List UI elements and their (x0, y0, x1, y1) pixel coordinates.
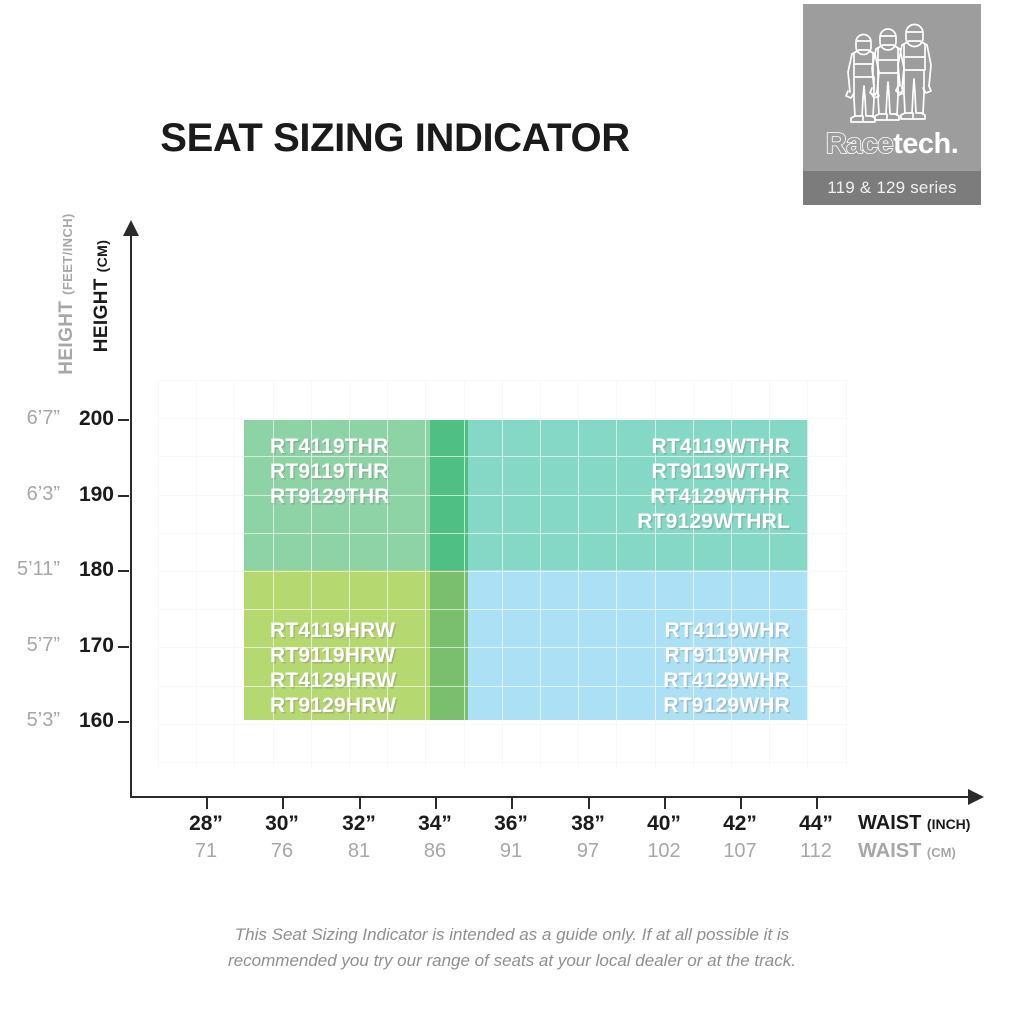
y-axis-arrow-icon (123, 220, 139, 236)
x-tick-label-inch: 44” (778, 812, 854, 836)
y-axis-title-cm-unit: (CM) (94, 240, 110, 273)
y-tick-label-cm: 200 (62, 407, 114, 431)
x-tick-label-inch: 36” (473, 812, 549, 836)
x-tick-label-cm: 102 (626, 840, 702, 863)
footnote-line-1: This Seat Sizing Indicator is intended a… (0, 922, 1024, 948)
x-tick-label-inch: 40” (626, 812, 702, 836)
model-label: RT4129HRW (270, 668, 430, 693)
y-axis-tick (118, 646, 129, 648)
x-axis-tick (511, 798, 513, 809)
model-label: RT4129WHR (468, 668, 790, 693)
x-axis-tick (664, 798, 666, 809)
model-label: RT4119WTHR (468, 434, 790, 459)
zone-bottom-left-labels: RT4119HRWRT9119HRWRT4129HRWRT9129HRW (244, 618, 430, 718)
gridline-horizontal (158, 724, 848, 725)
x-axis-tick (282, 798, 284, 809)
y-axis-tick (118, 721, 129, 723)
y-axis-title-cm: HEIGHT (CM) (91, 186, 113, 406)
x-tick-label-cm: 91 (473, 840, 549, 863)
zone-overlap-top (430, 420, 468, 570)
gridline-horizontal (158, 762, 848, 763)
y-axis-tick (118, 419, 129, 421)
zone-top-right-labels: RT4119WTHRRT9119WTHRRT4129WTHRRT9129WTHR… (468, 434, 808, 534)
x-axis-tick (740, 798, 742, 809)
gridline-horizontal (158, 380, 848, 381)
x-tick-label-cm: 81 (321, 840, 397, 863)
x-axis-line (130, 796, 972, 798)
y-axis-line (130, 232, 132, 798)
zone-top-left-green: RT4119THRRT9119THRRT9129THR (244, 420, 430, 570)
x-axis-tick (435, 798, 437, 809)
x-tick-label-cm: 107 (702, 840, 778, 863)
x-tick-label-inch: 30” (244, 812, 320, 836)
model-label: RT9129WHR (468, 693, 790, 718)
zone-bottom-right-labels: RT4119WHRRT9119WHRRT4129WHRRT9129WHR (468, 618, 808, 718)
x-axis-arrow-icon (968, 789, 984, 805)
y-tick-label-feet: 5’11” (0, 558, 60, 581)
y-tick-label-cm: 170 (62, 634, 114, 658)
x-tick-label-inch: 38” (550, 812, 626, 836)
model-label: RT9119THR (270, 459, 430, 484)
y-tick-label-feet: 5’3” (0, 709, 60, 732)
x-axis-title-inch: WAIST (INCH) (858, 812, 970, 835)
sizing-chart: RT4119THRRT9119THRRT9129THR RT4119WTHRRT… (0, 0, 1024, 1024)
y-axis-title-feet: HEIGHT (FEET/INCH) (56, 184, 78, 404)
zone-overlap-bottom (430, 570, 468, 720)
model-label: RT4119WHR (468, 618, 790, 643)
zone-bottom-left-yellowgreen: RT4119HRWRT9119HRWRT4129HRWRT9129HRW (244, 570, 430, 720)
model-label: RT9129THR (270, 484, 430, 509)
x-axis-tick (206, 798, 208, 809)
model-label: RT9119HRW (270, 643, 430, 668)
zone-bottom-right-blue: RT4119WHRRT9119WHRRT4129WHRRT9129WHR (468, 570, 808, 720)
y-tick-label-feet: 6’3” (0, 483, 60, 506)
model-label: RT9129WTHRL (468, 509, 790, 534)
x-axis-tick (359, 798, 361, 809)
y-axis-title-cm-main: HEIGHT (91, 278, 112, 352)
x-tick-label-inch: 32” (321, 812, 397, 836)
x-axis-title-inch-main: WAIST (858, 812, 921, 834)
x-axis-tick (816, 798, 818, 809)
model-label: RT9119WTHR (468, 459, 790, 484)
y-axis-title-feet-main: HEIGHT (56, 301, 77, 375)
y-tick-label-cm: 190 (62, 483, 114, 507)
model-label: RT4119THR (270, 434, 430, 459)
model-label: RT4119HRW (270, 618, 430, 643)
x-axis-tick (588, 798, 590, 809)
y-axis-tick (118, 495, 129, 497)
x-axis-title-cm: WAIST (CM) (858, 840, 956, 863)
x-tick-label-cm: 112 (778, 840, 854, 863)
zone-top-right-teal: RT4119WTHRRT9119WTHRRT4129WTHRRT9129WTHR… (468, 420, 808, 570)
y-tick-label-cm: 180 (62, 558, 114, 582)
gridline-vertical (234, 380, 235, 768)
x-axis-title-cm-main: WAIST (858, 840, 921, 862)
gridline-vertical (158, 380, 159, 768)
model-label: RT4129WTHR (468, 484, 790, 509)
y-tick-label-feet: 6’7” (0, 407, 60, 430)
x-axis-title-inch-unit: (INCH) (927, 816, 971, 832)
x-tick-label-cm: 97 (550, 840, 626, 863)
footnote-line-2: recommended you try our range of seats a… (0, 948, 1024, 974)
zone-top-left-labels: RT4119THRRT9119THRRT9129THR (244, 434, 430, 509)
y-tick-label-cm: 160 (62, 709, 114, 733)
model-label: RT9129HRW (270, 693, 430, 718)
x-tick-label-inch: 42” (702, 812, 778, 836)
gridline-vertical (196, 380, 197, 768)
gridline-vertical (846, 380, 847, 768)
x-axis-title-cm-unit: (CM) (927, 845, 956, 860)
x-tick-label-cm: 71 (168, 840, 244, 863)
x-tick-label-cm: 86 (397, 840, 473, 863)
y-axis-tick (118, 570, 129, 572)
x-tick-label-inch: 28” (168, 812, 244, 836)
y-tick-label-feet: 5’7” (0, 634, 60, 657)
x-tick-label-inch: 34” (397, 812, 473, 836)
seat-sizing-indicator-page: Racetech. 119 & 129 series SEAT SIZING I… (0, 0, 1024, 1024)
gridline-horizontal (158, 418, 848, 419)
footnote: This Seat Sizing Indicator is intended a… (0, 922, 1024, 974)
model-label: RT9119WHR (468, 643, 790, 668)
y-axis-title-feet-unit: (FEET/INCH) (60, 213, 75, 295)
x-tick-label-cm: 76 (244, 840, 320, 863)
